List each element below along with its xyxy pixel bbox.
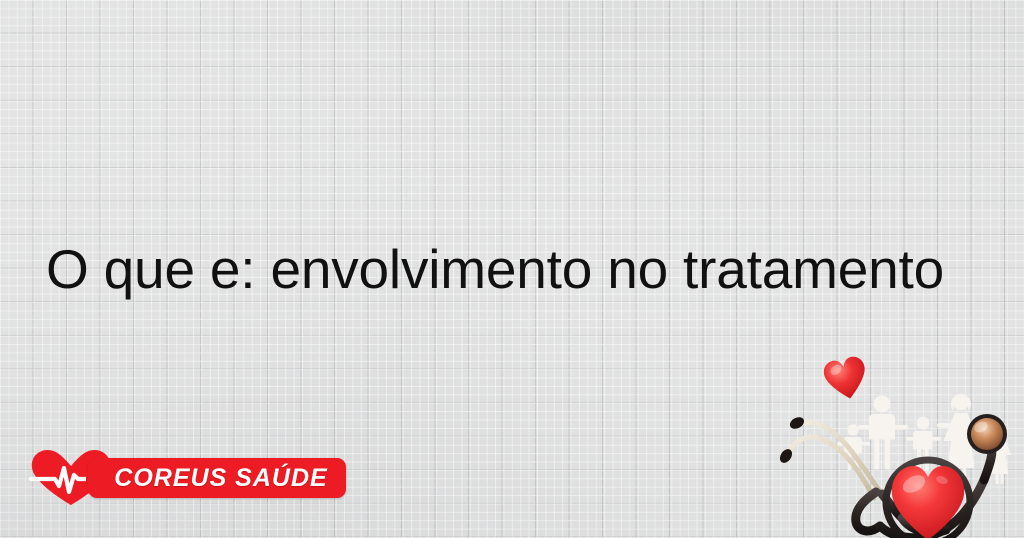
- stethoscope-ear-tubes: [786, 422, 882, 498]
- page-title: O que e: envolvimento no tratamento: [46, 234, 996, 304]
- slide-canvas: O que e: envolvimento no tratamento CORE…: [0, 0, 1024, 538]
- brand-logo: COREUS SAÚDE: [28, 448, 348, 508]
- family-health-stethoscope-illustration: [778, 352, 1024, 538]
- brand-name-label: COREUS SAÚDE: [88, 458, 346, 498]
- brand-badge: COREUS SAÚDE: [88, 458, 346, 498]
- small-red-heart: [822, 355, 871, 403]
- stethoscope-chest-piece: [967, 414, 1007, 454]
